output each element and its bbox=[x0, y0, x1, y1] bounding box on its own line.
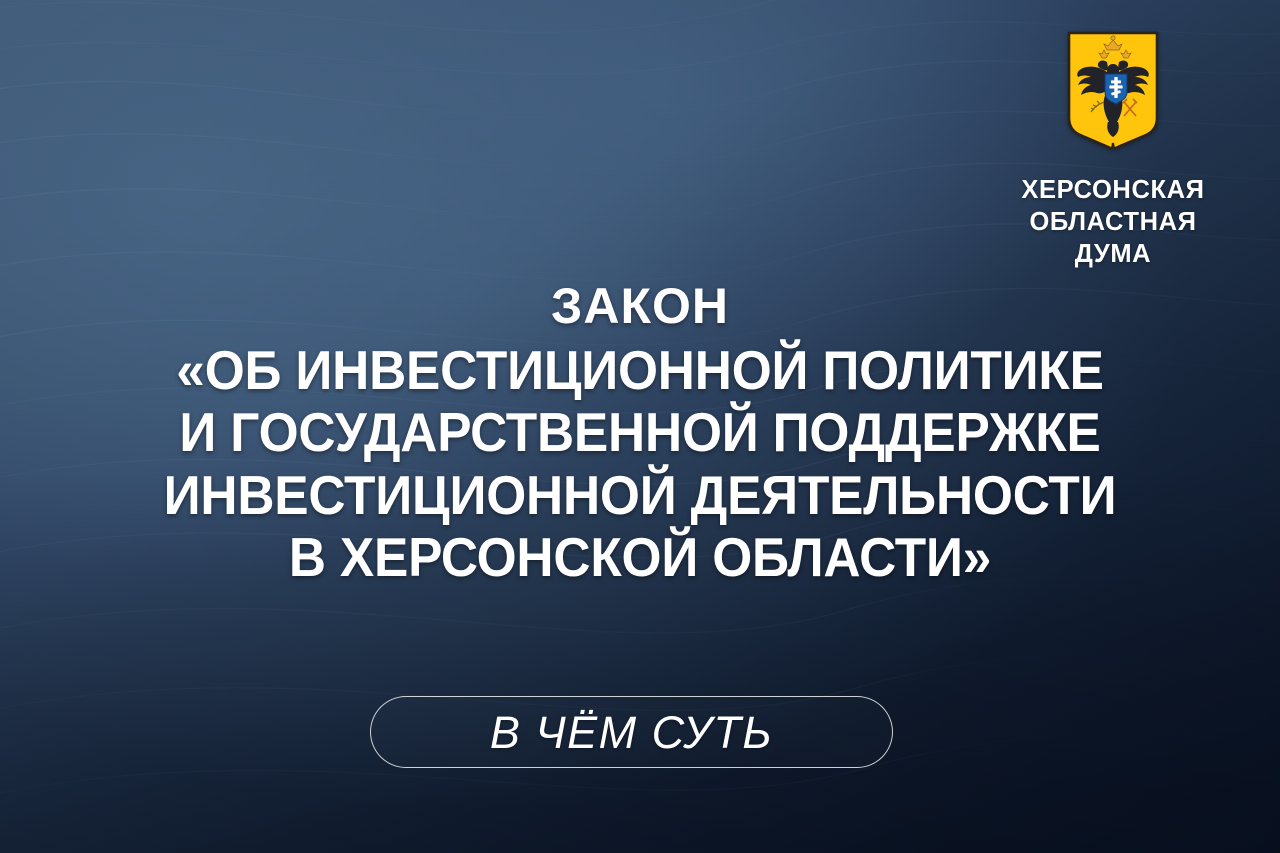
headline-line-5: В ХЕРСОНСКОЙ ОБЛАСТИ» bbox=[57, 526, 1224, 588]
brand-name-line-1: ХЕРСОНСКАЯ bbox=[1021, 174, 1204, 206]
headline-line-3: И ГОСУДАРСТВЕННОЙ ПОДДЕРЖКЕ bbox=[57, 401, 1224, 463]
headline-line-4: ИНВЕСТИЦИОННОЙ ДЕЯТЕЛЬНОСТИ bbox=[57, 464, 1224, 526]
poster-canvas: ХЕРСОНСКАЯ ОБЛАСТНАЯ ДУМА ЗАКОН «ОБ ИНВЕ… bbox=[0, 0, 1280, 853]
brand-name: ХЕРСОНСКАЯ ОБЛАСТНАЯ ДУМА bbox=[1021, 174, 1204, 270]
brand-name-line-3: ДУМА bbox=[1021, 238, 1204, 270]
brand-block: ХЕРСОНСКАЯ ОБЛАСТНАЯ ДУМА bbox=[988, 30, 1238, 270]
cta-label: В ЧЁМ СУТЬ bbox=[490, 710, 773, 755]
cta-pill-button[interactable]: В ЧЁМ СУТЬ bbox=[370, 696, 893, 768]
brand-name-line-2: ОБЛАСТНАЯ bbox=[1021, 206, 1204, 238]
headline-line-1: ЗАКОН bbox=[16, 274, 1264, 339]
headline-line-2: «ОБ ИНВЕСТИЦИОННОЙ ПОЛИТИКЕ bbox=[57, 339, 1224, 401]
headline-title: ЗАКОН «ОБ ИНВЕСТИЦИОННОЙ ПОЛИТИКЕ И ГОСУ… bbox=[0, 274, 1280, 589]
coat-of-arms-icon bbox=[1066, 30, 1160, 152]
